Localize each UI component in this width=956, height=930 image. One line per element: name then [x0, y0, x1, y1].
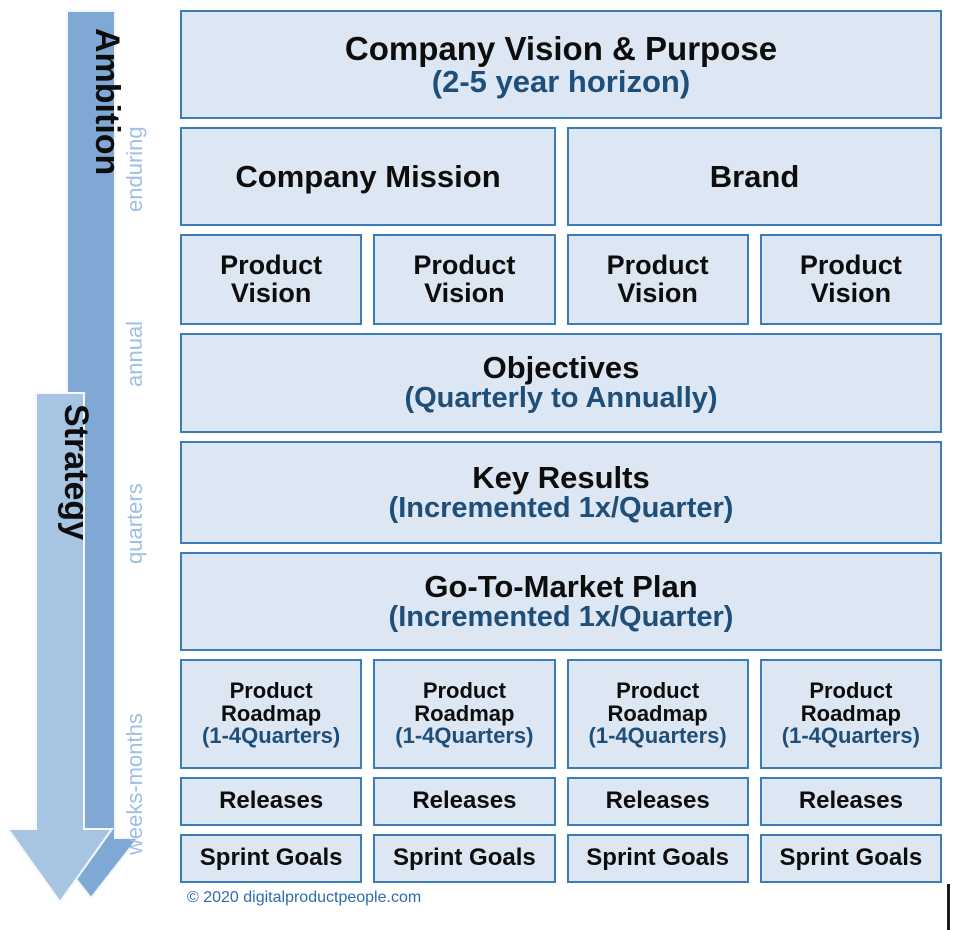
cell-title: Key Results — [472, 462, 649, 494]
cell-title: Sprint Goals — [780, 846, 923, 870]
cell-title: Releases — [606, 789, 710, 813]
strategy-arrow: Strategy — [0, 392, 125, 917]
cell-title: Product Roadmap — [182, 680, 360, 725]
cell-subtitle: (Quarterly to Annually) — [404, 384, 717, 414]
hierarchy-matrix: Company Vision & Purpose (2-5 year horiz… — [180, 10, 942, 891]
cell-subtitle: (Incremented 1x/Quarter) — [389, 494, 734, 524]
row-product-vision: Product Vision Product Vision Product Vi… — [180, 234, 942, 325]
row-releases: Releases Releases Releases Releases — [180, 777, 942, 826]
cell-subtitle: (Incremented 1x/Quarter) — [389, 603, 734, 633]
cell-sprint-goals-2[interactable]: Sprint Goals — [373, 834, 555, 883]
cell-product-roadmap-3[interactable]: Product Roadmap (1-4Quarters) — [567, 659, 749, 769]
cell-brand[interactable]: Brand — [567, 127, 942, 226]
row-key-results: Key Results (Incremented 1x/Quarter) — [180, 441, 942, 544]
cell-product-vision-4[interactable]: Product Vision — [760, 234, 942, 325]
cell-title: Releases — [412, 789, 516, 813]
cell-product-roadmap-1[interactable]: Product Roadmap (1-4Quarters) — [180, 659, 362, 769]
cell-sprint-goals-1[interactable]: Sprint Goals — [180, 834, 362, 883]
copyright-credit: © 2020 digitalproductpeople.com — [187, 889, 421, 907]
cell-releases-4[interactable]: Releases — [760, 777, 942, 826]
cell-releases-2[interactable]: Releases — [373, 777, 555, 826]
row-sprint-goals: Sprint Goals Sprint Goals Sprint Goals S… — [180, 834, 942, 883]
cell-title: Objectives — [483, 352, 640, 384]
cell-title: Product Roadmap — [375, 680, 553, 725]
cell-title: Company Vision & Purpose — [345, 32, 777, 66]
timescale-label-weeks-months: weeks-months — [122, 713, 148, 855]
cell-sprint-goals-4[interactable]: Sprint Goals — [760, 834, 942, 883]
cell-product-vision-1[interactable]: Product Vision — [180, 234, 362, 325]
cell-title: Go-To-Market Plan — [424, 571, 697, 603]
row-go-to-market-plan: Go-To-Market Plan (Incremented 1x/Quarte… — [180, 552, 942, 651]
cell-sprint-goals-3[interactable]: Sprint Goals — [567, 834, 749, 883]
cell-company-mission[interactable]: Company Mission — [180, 127, 556, 226]
timescale-label-annual: annual — [122, 321, 148, 387]
cell-key-results[interactable]: Key Results (Incremented 1x/Quarter) — [180, 441, 942, 544]
cell-go-to-market-plan[interactable]: Go-To-Market Plan (Incremented 1x/Quarte… — [180, 552, 942, 651]
cell-releases-1[interactable]: Releases — [180, 777, 362, 826]
row-company-vision: Company Vision & Purpose (2-5 year horiz… — [180, 10, 942, 119]
cell-releases-3[interactable]: Releases — [567, 777, 749, 826]
right-edge-mark — [947, 884, 950, 930]
cell-title: Product Roadmap — [569, 680, 747, 725]
cell-title: Brand — [710, 161, 800, 193]
cell-title: Sprint Goals — [586, 846, 729, 870]
cell-title: Product Vision — [182, 252, 360, 307]
cell-subtitle: (1-4Quarters) — [589, 725, 727, 747]
timescale-label-quarters: quarters — [122, 483, 148, 564]
cell-product-vision-2[interactable]: Product Vision — [373, 234, 555, 325]
row-company-mission-brand: Company Mission Brand — [180, 127, 942, 226]
cell-objectives[interactable]: Objectives (Quarterly to Annually) — [180, 333, 942, 433]
cell-title: Company Mission — [235, 161, 500, 193]
cell-subtitle: (1-4Quarters) — [202, 725, 340, 747]
row-product-roadmap: Product Roadmap (1-4Quarters) Product Ro… — [180, 659, 942, 769]
cell-product-vision-3[interactable]: Product Vision — [567, 234, 749, 325]
cell-subtitle: (1-4Quarters) — [782, 725, 920, 747]
cell-title: Product Vision — [375, 252, 553, 307]
cell-title: Product Vision — [569, 252, 747, 307]
row-objectives: Objectives (Quarterly to Annually) — [180, 333, 942, 433]
cell-subtitle: (1-4Quarters) — [395, 725, 533, 747]
ambition-arrow-label: Ambition — [87, 28, 126, 175]
cell-title: Sprint Goals — [200, 846, 343, 870]
cell-title: Product Vision — [762, 252, 940, 307]
cell-subtitle: (2-5 year horizon) — [432, 66, 690, 98]
cell-title: Releases — [799, 789, 903, 813]
diagram-canvas: Ambition Strategy enduring annual quarte… — [0, 0, 956, 930]
cell-title: Product Roadmap — [762, 680, 940, 725]
cell-title: Releases — [219, 789, 323, 813]
cell-title: Sprint Goals — [393, 846, 536, 870]
cell-product-roadmap-4[interactable]: Product Roadmap (1-4Quarters) — [760, 659, 942, 769]
cell-product-roadmap-2[interactable]: Product Roadmap (1-4Quarters) — [373, 659, 555, 769]
cell-company-vision[interactable]: Company Vision & Purpose (2-5 year horiz… — [180, 10, 942, 119]
strategy-arrow-label: Strategy — [56, 404, 95, 540]
timescale-label-enduring: enduring — [122, 126, 148, 212]
